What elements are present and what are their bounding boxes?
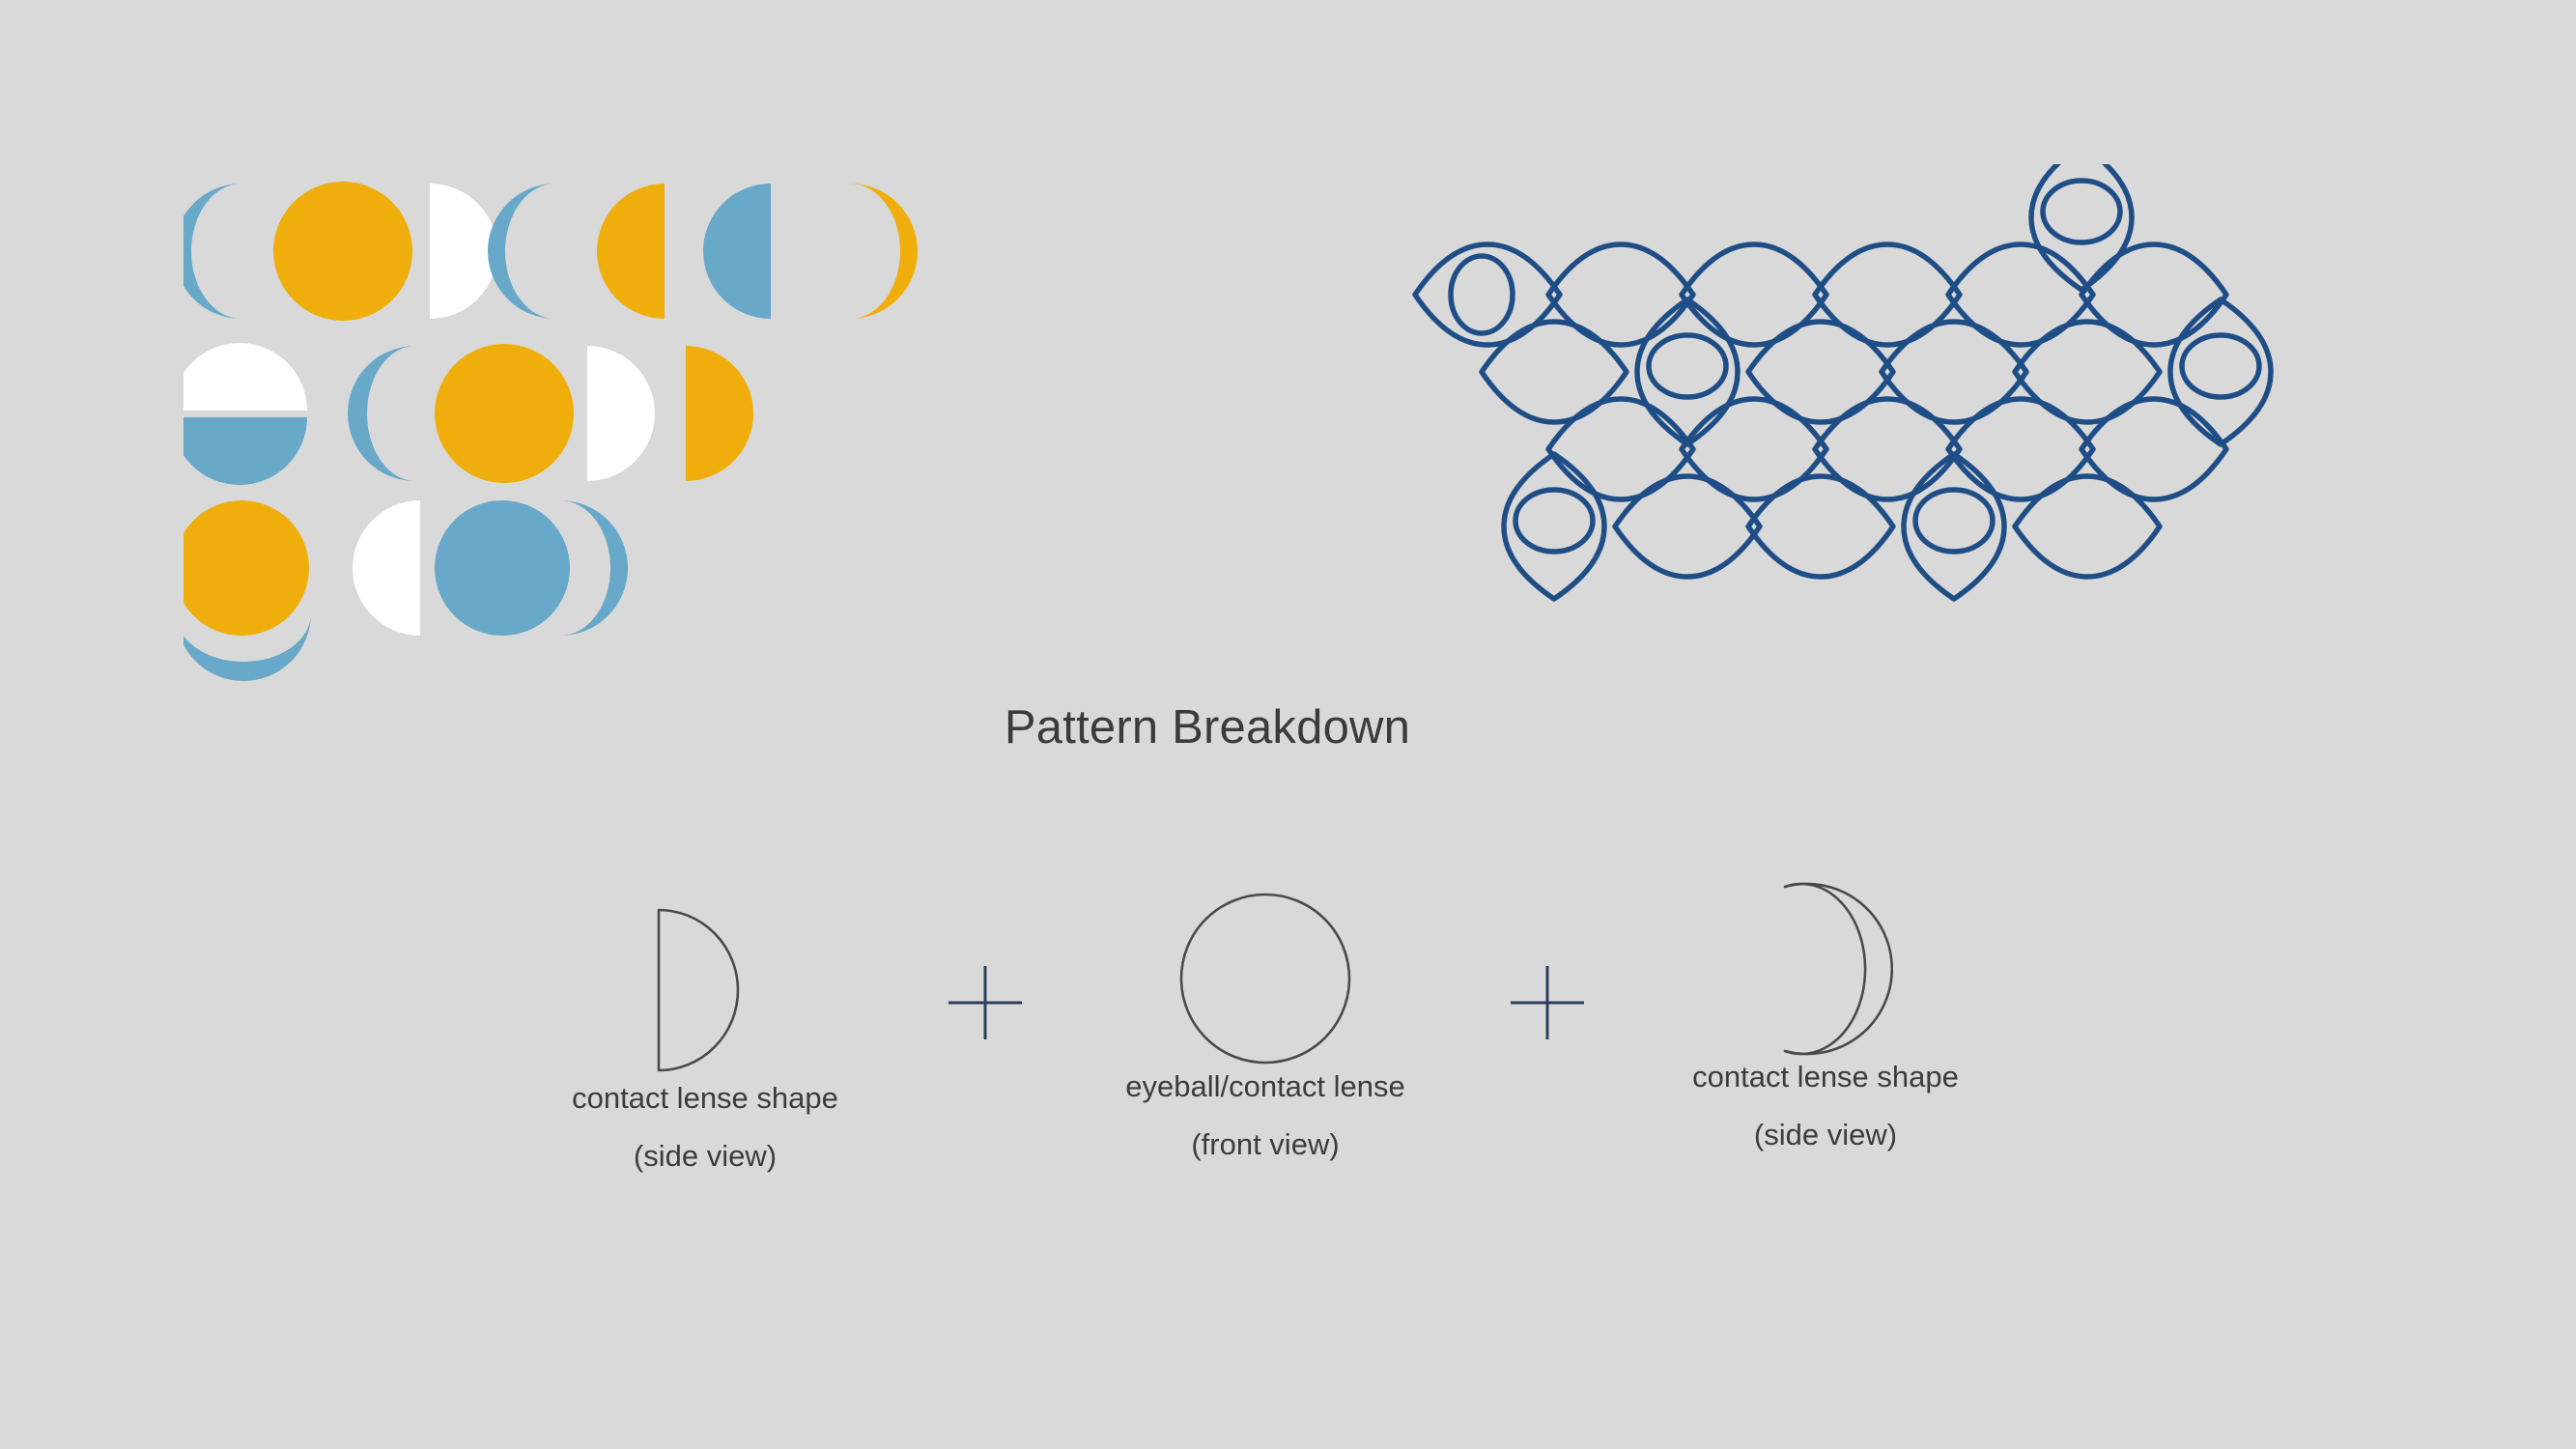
motif-cell-r3c1	[184, 500, 309, 636]
caption-line-1: contact lense shape	[572, 1081, 838, 1115]
breakdown-item-eyeball-front: eyeball/contact lense (front view)	[1033, 887, 1497, 1161]
breakdown-item-contact-lens-side-right: contact lense shape (side view)	[1594, 877, 2057, 1151]
half-disc-outline-right-icon	[473, 898, 937, 1082]
page-title: Pattern Breakdown	[0, 700, 2415, 754]
breakdown-item-contact-lens-side-left: contact lense shape (side view)	[473, 898, 937, 1173]
caption-line-1: contact lense shape	[1692, 1060, 1959, 1094]
motif-cell-r1c2	[273, 182, 412, 321]
motif-cell-r1c1	[184, 184, 241, 319]
motif-cell-r2c4	[435, 344, 574, 483]
eye-lattice-pattern	[1401, 164, 2299, 647]
breakdown-caption: contact lense shape (side view)	[473, 1082, 937, 1173]
motif-cell-r3c5	[560, 500, 628, 636]
pattern-breakdown-row: contact lense shape (side view) eyeball/…	[473, 898, 2115, 1304]
design-canvas: Pattern Breakdown contact lense shape (s…	[0, 0, 2576, 1449]
caption-line-2: (side view)	[473, 1140, 937, 1173]
caption-line-2: (front view)	[1033, 1128, 1497, 1161]
motif-cell-r2c3	[348, 346, 415, 481]
plus-operator-icon	[937, 954, 1033, 1051]
caption-line-1: eyeball/contact lense	[1125, 1069, 1405, 1103]
caption-line-2: (side view)	[1594, 1119, 2057, 1151]
lattice-eye-row	[1504, 454, 2160, 599]
colorful-circle-motif	[184, 164, 918, 724]
motif-cell-r1c6	[703, 184, 838, 319]
crescent-outline-icon	[1594, 877, 2057, 1061]
motif-cell-r3c4	[435, 500, 570, 636]
breakdown-caption: contact lense shape (side view)	[1594, 1061, 2057, 1151]
lattice-eye-row	[1482, 299, 2271, 444]
plus-operator-icon	[1499, 954, 1596, 1051]
motif-cell-r1c4	[488, 184, 555, 319]
circle-outline-icon	[1033, 887, 1497, 1070]
lattice-eye-row	[1415, 244, 2226, 345]
breakdown-caption: eyeball/contact lense (front view)	[1033, 1070, 1497, 1161]
motif-cell-r1c7	[850, 184, 918, 319]
lattice-eye	[2031, 164, 2132, 290]
